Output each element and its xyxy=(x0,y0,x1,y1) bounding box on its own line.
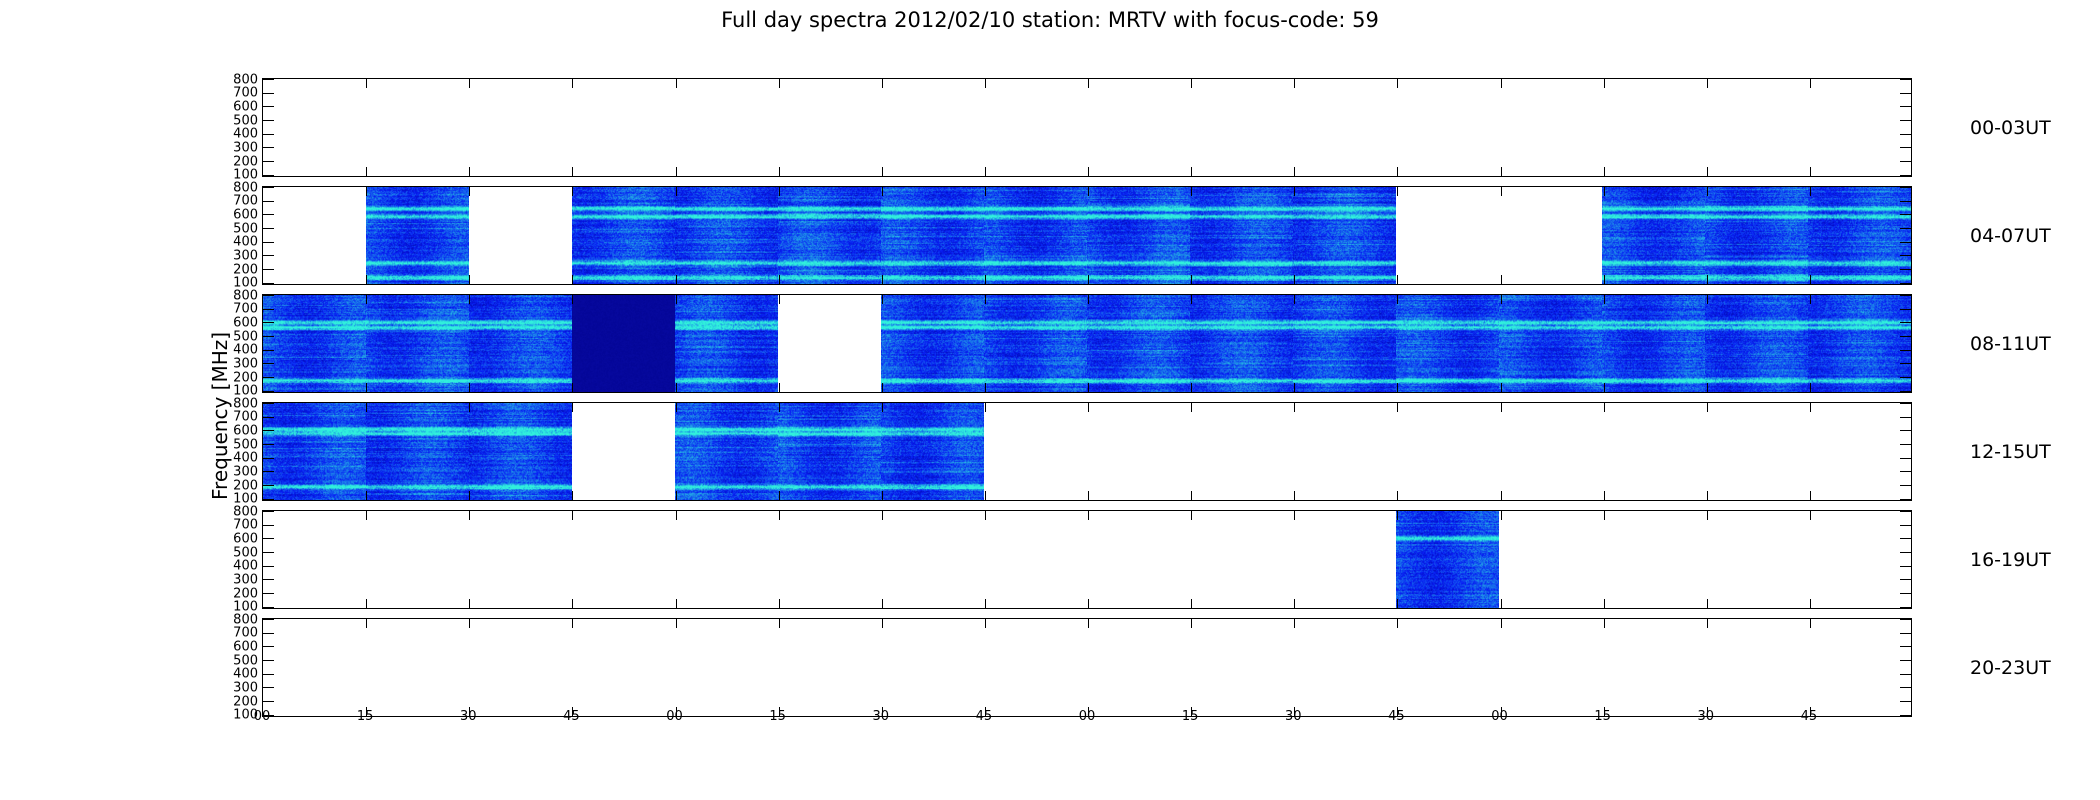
empty-block xyxy=(366,511,469,608)
y-tick xyxy=(263,161,274,162)
y-tick xyxy=(263,350,274,351)
empty-block xyxy=(366,79,469,176)
x-tick-label: 45 xyxy=(976,709,993,724)
y-tick-label: 100 xyxy=(216,708,258,723)
empty-block xyxy=(675,79,778,176)
x-tick xyxy=(779,275,780,284)
figure-title: Full day spectra 2012/02/10 station: MRT… xyxy=(0,8,2100,32)
x-tick xyxy=(572,511,573,520)
y-tick xyxy=(263,187,274,188)
x-tick xyxy=(1810,511,1811,520)
x-tick xyxy=(469,491,470,500)
x-tick xyxy=(1397,275,1398,284)
data-block xyxy=(881,187,984,284)
x-tick xyxy=(1088,275,1089,284)
y-tick xyxy=(263,579,274,580)
row-time-label: 08-11UT xyxy=(1970,333,2051,355)
y-tick xyxy=(1900,295,1911,296)
spectrogram-canvas xyxy=(366,295,469,392)
empty-block xyxy=(1705,403,1808,500)
x-tick xyxy=(1604,383,1605,392)
spectrogram-canvas xyxy=(469,403,572,500)
y-tick xyxy=(1900,242,1911,243)
x-tick xyxy=(1707,383,1708,392)
x-tick xyxy=(1604,511,1605,520)
x-tick xyxy=(1088,383,1089,392)
x-tick-label: 15 xyxy=(357,709,374,724)
y-tick xyxy=(1900,161,1911,162)
x-tick xyxy=(1604,79,1605,88)
x-tick xyxy=(1501,403,1502,412)
empty-block xyxy=(1396,79,1499,176)
x-tick xyxy=(779,79,780,88)
x-tick xyxy=(1397,511,1398,520)
data-block xyxy=(469,403,572,500)
x-tick xyxy=(1191,599,1192,608)
y-tick xyxy=(1900,309,1911,310)
spectrogram-canvas xyxy=(1190,187,1293,284)
y-tick xyxy=(263,283,274,284)
x-tick xyxy=(676,599,677,608)
y-tick xyxy=(263,120,274,121)
x-tick-label: 15 xyxy=(1594,709,1611,724)
x-tick xyxy=(1397,599,1398,608)
x-tick-label: 45 xyxy=(1388,709,1405,724)
data-block xyxy=(881,295,984,392)
y-tick xyxy=(1900,269,1911,270)
empty-block xyxy=(778,619,881,716)
x-tick xyxy=(1088,79,1089,88)
x-tick xyxy=(1501,599,1502,608)
spectrogram-canvas xyxy=(572,187,675,284)
y-tick xyxy=(263,660,274,661)
spectrogram-canvas xyxy=(1190,295,1293,392)
x-tick xyxy=(1501,295,1502,304)
x-tick xyxy=(1501,619,1502,628)
empty-block xyxy=(263,187,366,284)
data-block xyxy=(1190,295,1293,392)
data-block xyxy=(366,187,469,284)
y-tick xyxy=(263,593,274,594)
x-tick xyxy=(1088,167,1089,176)
y-tick xyxy=(263,552,274,553)
x-tick xyxy=(1501,187,1502,196)
x-tick xyxy=(1191,275,1192,284)
y-tick xyxy=(1900,391,1911,392)
data-block xyxy=(675,295,778,392)
spectrogram-canvas xyxy=(675,187,778,284)
x-tick xyxy=(1191,491,1192,500)
x-tick xyxy=(779,491,780,500)
data-block xyxy=(263,403,366,500)
y-tick xyxy=(263,295,274,296)
y-tick xyxy=(263,525,274,526)
spectrogram-canvas xyxy=(1808,295,1911,392)
y-tick xyxy=(1900,120,1911,121)
data-block xyxy=(1396,511,1499,608)
x-tick xyxy=(1397,167,1398,176)
x-tick xyxy=(985,491,986,500)
data-block xyxy=(263,295,366,392)
x-tick xyxy=(469,511,470,520)
y-tick xyxy=(263,646,274,647)
empty-block xyxy=(778,511,881,608)
x-tick xyxy=(1397,403,1398,412)
y-tick xyxy=(263,336,274,337)
y-tick xyxy=(1900,646,1911,647)
x-tick xyxy=(1604,403,1605,412)
y-tick xyxy=(1900,214,1911,215)
empty-block xyxy=(1808,403,1911,500)
x-tick xyxy=(1810,403,1811,412)
x-tick xyxy=(1294,167,1295,176)
x-tick xyxy=(985,511,986,520)
x-tick xyxy=(985,403,986,412)
y-tick xyxy=(263,255,274,256)
data-block xyxy=(984,187,1087,284)
data-block xyxy=(881,403,984,500)
empty-block xyxy=(778,295,881,392)
y-tick xyxy=(263,566,274,567)
spectrogram-canvas xyxy=(1705,295,1808,392)
y-tick xyxy=(263,511,274,512)
y-tick xyxy=(1900,283,1911,284)
data-block xyxy=(366,295,469,392)
x-tick xyxy=(1604,275,1605,284)
x-tick xyxy=(366,79,367,88)
x-tick xyxy=(1088,599,1089,608)
data-block xyxy=(1705,295,1808,392)
x-tick-label: 00 xyxy=(1079,709,1096,724)
empty-block xyxy=(1190,403,1293,500)
x-tick xyxy=(779,295,780,304)
spectrogram-row-00-03ut xyxy=(262,78,1912,177)
y-tick xyxy=(1900,175,1911,176)
x-tick-label: 00 xyxy=(254,709,271,724)
y-tick xyxy=(263,417,274,418)
y-tick xyxy=(263,499,274,500)
x-tick xyxy=(1810,167,1811,176)
spectrogram-canvas xyxy=(881,187,984,284)
y-tick xyxy=(1900,93,1911,94)
empty-block xyxy=(1293,511,1396,608)
y-tick xyxy=(263,633,274,634)
x-tick xyxy=(779,167,780,176)
empty-block xyxy=(675,511,778,608)
x-tick xyxy=(882,383,883,392)
x-tick xyxy=(1397,79,1398,88)
data-block xyxy=(778,403,881,500)
x-tick xyxy=(469,403,470,412)
x-tick xyxy=(366,403,367,412)
x-tick xyxy=(366,383,367,392)
spectrogram-canvas xyxy=(984,295,1087,392)
x-tick xyxy=(985,187,986,196)
x-tick xyxy=(985,295,986,304)
spectrogram-canvas xyxy=(1293,187,1396,284)
y-tick xyxy=(263,106,274,107)
x-tick xyxy=(779,187,780,196)
x-tick xyxy=(1191,511,1192,520)
x-tick xyxy=(572,187,573,196)
empty-block xyxy=(778,79,881,176)
data-block xyxy=(1293,295,1396,392)
empty-block xyxy=(1602,79,1705,176)
data-block xyxy=(1293,187,1396,284)
spectrogram-canvas xyxy=(1602,187,1705,284)
x-tick xyxy=(882,403,883,412)
y-tick xyxy=(1900,674,1911,675)
data-block xyxy=(1087,187,1190,284)
x-tick xyxy=(1810,491,1811,500)
x-tick xyxy=(1191,295,1192,304)
x-tick xyxy=(572,491,573,500)
x-tick xyxy=(366,295,367,304)
x-tick xyxy=(985,383,986,392)
y-tick xyxy=(1900,147,1911,148)
y-tick xyxy=(1900,499,1911,500)
y-tick xyxy=(1900,228,1911,229)
empty-block xyxy=(1705,79,1808,176)
x-tick-label: 30 xyxy=(460,709,477,724)
x-tick xyxy=(882,511,883,520)
x-tick xyxy=(1604,187,1605,196)
empty-block xyxy=(572,403,675,500)
y-tick xyxy=(263,687,274,688)
data-block xyxy=(1190,187,1293,284)
x-tick xyxy=(572,383,573,392)
data-block xyxy=(1602,295,1705,392)
y-tick xyxy=(1900,607,1911,608)
empty-block xyxy=(984,619,1087,716)
empty-block xyxy=(1499,187,1602,284)
x-tick xyxy=(1810,619,1811,628)
spectrogram-canvas xyxy=(881,295,984,392)
empty-block xyxy=(1808,79,1911,176)
y-tick xyxy=(263,79,274,80)
empty-block xyxy=(469,619,572,716)
spectrogram-canvas xyxy=(1087,187,1190,284)
x-tick xyxy=(1294,491,1295,500)
empty-block xyxy=(469,187,572,284)
x-tick xyxy=(1397,491,1398,500)
x-tick xyxy=(469,167,470,176)
x-tick xyxy=(1810,187,1811,196)
x-tick xyxy=(366,491,367,500)
y-tick xyxy=(263,485,274,486)
y-tick xyxy=(1900,106,1911,107)
y-tick xyxy=(263,607,274,608)
x-tick xyxy=(1191,167,1192,176)
y-tick xyxy=(263,242,274,243)
empty-block xyxy=(572,79,675,176)
x-tick xyxy=(366,619,367,628)
x-tick xyxy=(1707,511,1708,520)
y-tick xyxy=(1900,444,1911,445)
x-tick xyxy=(1294,295,1295,304)
x-tick xyxy=(779,619,780,628)
x-tick xyxy=(1604,491,1605,500)
y-tick xyxy=(1900,187,1911,188)
x-tick xyxy=(779,599,780,608)
x-tick-label: 00 xyxy=(1491,709,1508,724)
spectrogram-row-12-15ut xyxy=(262,402,1912,501)
x-tick-label: 45 xyxy=(563,709,580,724)
x-tick xyxy=(779,511,780,520)
x-tick xyxy=(1501,511,1502,520)
y-tick xyxy=(1900,619,1911,620)
y-tick xyxy=(1900,458,1911,459)
y-tick xyxy=(1900,417,1911,418)
empty-block xyxy=(572,619,675,716)
y-tick xyxy=(1900,593,1911,594)
y-tick xyxy=(263,309,274,310)
y-tick xyxy=(1900,350,1911,351)
x-tick xyxy=(882,79,883,88)
spectrogram-figure: Full day spectra 2012/02/10 station: MRT… xyxy=(0,0,2100,800)
y-tick xyxy=(1900,660,1911,661)
x-tick xyxy=(882,599,883,608)
y-tick xyxy=(1900,552,1911,553)
y-tick xyxy=(1900,566,1911,567)
x-tick xyxy=(366,167,367,176)
x-tick xyxy=(469,275,470,284)
x-tick xyxy=(676,167,677,176)
spectrogram-canvas xyxy=(572,295,675,392)
x-tick xyxy=(1501,167,1502,176)
x-tick xyxy=(985,275,986,284)
x-tick xyxy=(1397,187,1398,196)
spectrogram-canvas xyxy=(675,295,778,392)
x-tick xyxy=(1294,275,1295,284)
row-time-label: 00-03UT xyxy=(1970,117,2051,139)
y-tick xyxy=(263,269,274,270)
empty-block xyxy=(366,619,469,716)
spectrogram-canvas xyxy=(1087,295,1190,392)
x-tick xyxy=(1501,491,1502,500)
data-block xyxy=(572,295,675,392)
y-tick xyxy=(1900,79,1911,80)
x-tick-label: 45 xyxy=(1801,709,1818,724)
x-tick xyxy=(366,511,367,520)
x-tick-label: 30 xyxy=(1285,709,1302,724)
spectrogram-canvas xyxy=(881,403,984,500)
data-block xyxy=(1808,187,1911,284)
empty-block xyxy=(263,79,366,176)
y-tick xyxy=(263,674,274,675)
y-tick xyxy=(1900,363,1911,364)
x-tick xyxy=(1088,187,1089,196)
spectrogram-canvas xyxy=(675,403,778,500)
x-tick xyxy=(1604,167,1605,176)
x-tick xyxy=(469,79,470,88)
x-tick xyxy=(882,275,883,284)
y-tick xyxy=(1900,715,1911,716)
x-tick xyxy=(572,403,573,412)
spectrogram-canvas xyxy=(778,187,881,284)
x-tick xyxy=(985,619,986,628)
x-tick xyxy=(1294,511,1295,520)
x-tick xyxy=(1294,79,1295,88)
empty-block xyxy=(263,511,366,608)
y-tick xyxy=(263,471,274,472)
empty-block xyxy=(263,619,366,716)
x-tick xyxy=(572,167,573,176)
x-tick xyxy=(1088,511,1089,520)
empty-block xyxy=(1293,619,1396,716)
x-tick xyxy=(779,383,780,392)
data-block xyxy=(1808,295,1911,392)
x-tick-label: 30 xyxy=(1697,709,1714,724)
empty-block xyxy=(1499,619,1602,716)
spectrogram-row-04-07ut xyxy=(262,186,1912,285)
spectrogram-canvas xyxy=(366,403,469,500)
x-tick xyxy=(1707,187,1708,196)
y-tick xyxy=(1900,538,1911,539)
y-tick xyxy=(263,444,274,445)
x-tick-label: 00 xyxy=(666,709,683,724)
x-tick xyxy=(1397,295,1398,304)
empty-block xyxy=(469,79,572,176)
y-tick xyxy=(1900,633,1911,634)
x-tick xyxy=(1707,403,1708,412)
x-tick xyxy=(676,187,677,196)
empty-block xyxy=(1293,79,1396,176)
x-tick xyxy=(1810,79,1811,88)
x-tick xyxy=(1294,403,1295,412)
x-tick xyxy=(676,275,677,284)
y-tick xyxy=(263,134,274,135)
empty-block xyxy=(1087,79,1190,176)
empty-block xyxy=(1602,619,1705,716)
y-tick xyxy=(263,391,274,392)
y-tick xyxy=(1900,525,1911,526)
data-block xyxy=(366,403,469,500)
spectrogram-canvas xyxy=(366,187,469,284)
y-tick xyxy=(263,175,274,176)
empty-block xyxy=(1499,79,1602,176)
empty-block xyxy=(1499,403,1602,500)
y-tick xyxy=(263,430,274,431)
x-tick xyxy=(985,79,986,88)
x-tick xyxy=(572,295,573,304)
y-tick xyxy=(1900,377,1911,378)
x-tick xyxy=(882,295,883,304)
data-block xyxy=(984,295,1087,392)
y-tick xyxy=(1900,701,1911,702)
y-tick xyxy=(263,538,274,539)
x-tick xyxy=(469,187,470,196)
x-tick xyxy=(1707,599,1708,608)
empty-block xyxy=(1293,403,1396,500)
spectrogram-canvas xyxy=(263,403,366,500)
data-block xyxy=(778,187,881,284)
y-tick xyxy=(263,214,274,215)
y-tick xyxy=(263,93,274,94)
x-tick xyxy=(1810,599,1811,608)
x-tick xyxy=(1397,383,1398,392)
x-tick xyxy=(1501,383,1502,392)
x-tick xyxy=(1810,383,1811,392)
y-tick xyxy=(1900,201,1911,202)
x-tick xyxy=(1397,619,1398,628)
y-tick xyxy=(1900,471,1911,472)
y-tick xyxy=(263,228,274,229)
x-tick xyxy=(1707,619,1708,628)
x-tick xyxy=(1604,295,1605,304)
spectrogram-canvas xyxy=(1396,511,1499,608)
empty-block xyxy=(1602,403,1705,500)
